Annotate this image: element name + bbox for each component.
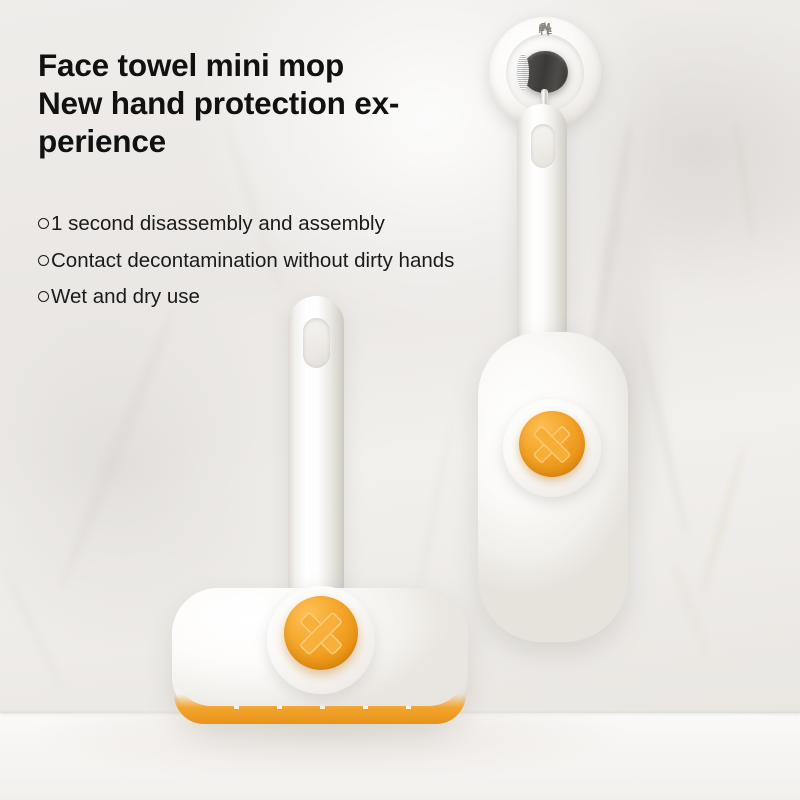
headline-line-3: perience <box>38 122 458 160</box>
feature-item: Contact decontamination without dirty ha… <box>38 251 538 272</box>
bullet-circle-icon <box>38 291 49 302</box>
knob-x-bar <box>533 425 572 464</box>
feature-item: Wet and dry use <box>38 287 538 308</box>
marble-vein <box>0 565 68 694</box>
headline: Face towel mini mop New hand protection … <box>38 46 458 160</box>
headline-line-2: New hand protection ex- <box>38 84 458 122</box>
marble-vein <box>734 120 756 240</box>
feature-text: 1 second disassembly and assembly <box>51 212 385 235</box>
feature-item: 1 second disassembly and assembly <box>38 214 538 235</box>
bullet-circle-icon <box>38 218 49 229</box>
mop-standing <box>160 296 480 728</box>
feature-list: 1 second disassembly and assembly Contac… <box>38 214 538 324</box>
handle-hang-slot <box>303 318 330 368</box>
mop-hanging <box>468 104 638 644</box>
feature-text: Wet and dry use <box>51 285 200 308</box>
hook-ring-letter: T <box>544 28 553 38</box>
feature-text: Contact decontamination without dirty ha… <box>51 249 454 272</box>
release-knob-x-icon <box>284 596 358 670</box>
headline-line-1: Face towel mini mop <box>38 46 458 84</box>
handle-hang-slot <box>531 124 555 168</box>
hook-knob-icon <box>522 51 568 93</box>
product-poster: IFESIMALET Face towel mini mop New hand … <box>0 0 800 800</box>
release-knob-x-icon <box>519 411 585 477</box>
bullet-circle-icon <box>38 255 49 266</box>
